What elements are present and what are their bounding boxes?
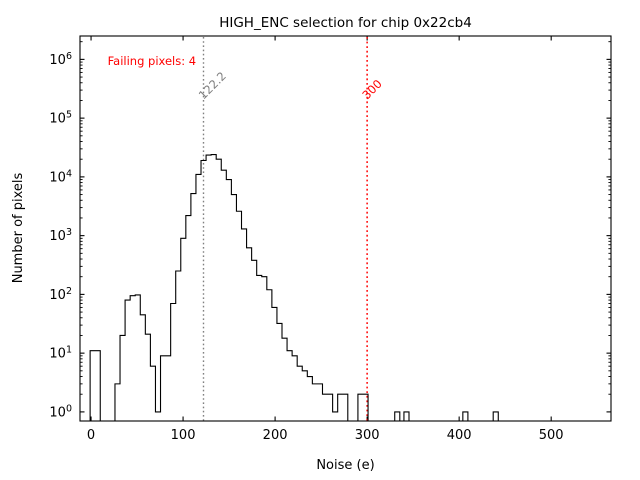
x-tick-label: 500 <box>539 428 564 443</box>
x-axis-label: Noise (e) <box>316 458 374 473</box>
failing-pixels-note: Failing pixels: 4 <box>108 54 197 68</box>
chart-title: HIGH_ENC selection for chip 0x22cb4 <box>219 15 472 31</box>
figure-background <box>0 0 640 480</box>
x-tick-label: 400 <box>447 428 472 443</box>
x-tick-label: 100 <box>171 428 196 443</box>
x-tick-label: 200 <box>263 428 288 443</box>
histogram-chart: HIGH_ENC selection for chip 0x22cb4 Numb… <box>0 0 640 480</box>
x-tick-label: 300 <box>355 428 380 443</box>
x-tick-label: 0 <box>87 428 95 443</box>
y-axis-label: Number of pixels <box>11 172 26 283</box>
chart-annotations: Failing pixels: 4 <box>108 54 197 68</box>
chart-figure: HIGH_ENC selection for chip 0x22cb4 Numb… <box>0 0 640 480</box>
